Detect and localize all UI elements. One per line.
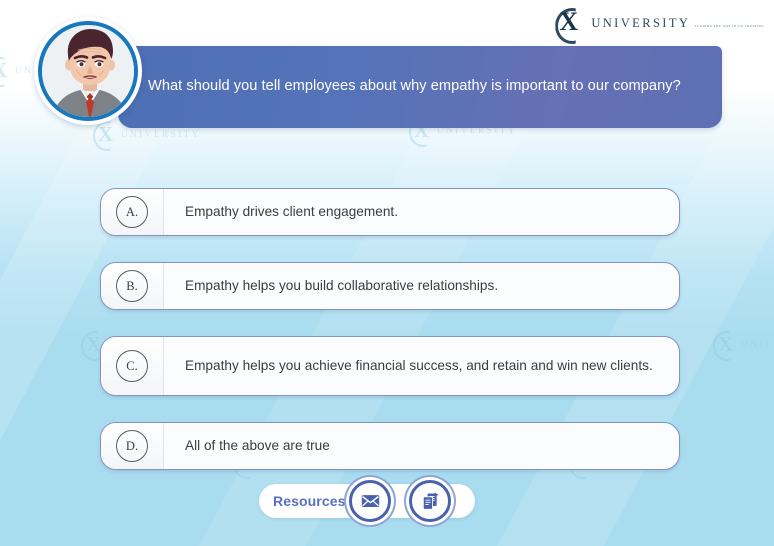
watermark-name: UNIVERSITY <box>121 129 201 139</box>
answer-options: A. Empathy drives client engagement. B. … <box>100 188 680 496</box>
background-watermark: UNIVERSITY <box>712 330 774 358</box>
option-letter: D. <box>116 430 148 462</box>
avatar <box>34 17 142 125</box>
option-letter: A. <box>116 196 148 228</box>
option-text: Empathy helps you achieve financial succ… <box>164 348 669 385</box>
option-letter: B. <box>116 270 148 302</box>
resources-documents-button[interactable] <box>409 480 451 522</box>
option-text: Empathy drives client engagement. <box>164 194 414 231</box>
answer-option-a[interactable]: A. Empathy drives client engagement. <box>100 188 680 236</box>
option-text: All of the above are true <box>164 428 346 465</box>
question-text: What should you tell employees about why… <box>118 76 705 97</box>
watermark-name: UNIVERSITY <box>741 339 774 349</box>
resources-label: Resources <box>259 493 346 509</box>
slide-canvas: UNIVERSITY UNIVERSITY UNIVERSITY UNIVERS… <box>0 0 774 546</box>
option-letter-badge: C. <box>101 337 164 395</box>
watermark-x-icon <box>712 330 738 358</box>
logo-name: UNIVERSITY <box>591 16 690 30</box>
answer-option-c[interactable]: C. Empathy helps you achieve financial s… <box>100 336 680 396</box>
logo-tagline: LEADING THE WAY IN CX TRAINING <box>695 24 764 28</box>
x-crescent-logo-icon <box>553 6 587 40</box>
option-letter-badge: D. <box>101 423 164 469</box>
answer-option-b[interactable]: B. Empathy helps you build collaborative… <box>100 262 680 310</box>
answer-option-d[interactable]: D. All of the above are true <box>100 422 680 470</box>
male-presenter-avatar-icon <box>42 25 138 121</box>
question-banner: What should you tell employees about why… <box>118 46 722 128</box>
option-text: Empathy helps you build collaborative re… <box>164 268 514 305</box>
resources-mail-button[interactable] <box>349 480 391 522</box>
option-letter-badge: A. <box>101 189 164 235</box>
avatar-ring <box>38 21 138 121</box>
brand-logo: UNIVERSITY LEADING THE WAY IN CX TRAININ… <box>553 6 764 40</box>
watermark-x-icon <box>0 56 12 84</box>
option-letter: C. <box>116 350 148 382</box>
envelope-icon <box>361 494 380 508</box>
option-letter-badge: B. <box>101 263 164 309</box>
documents-icon <box>420 491 440 511</box>
